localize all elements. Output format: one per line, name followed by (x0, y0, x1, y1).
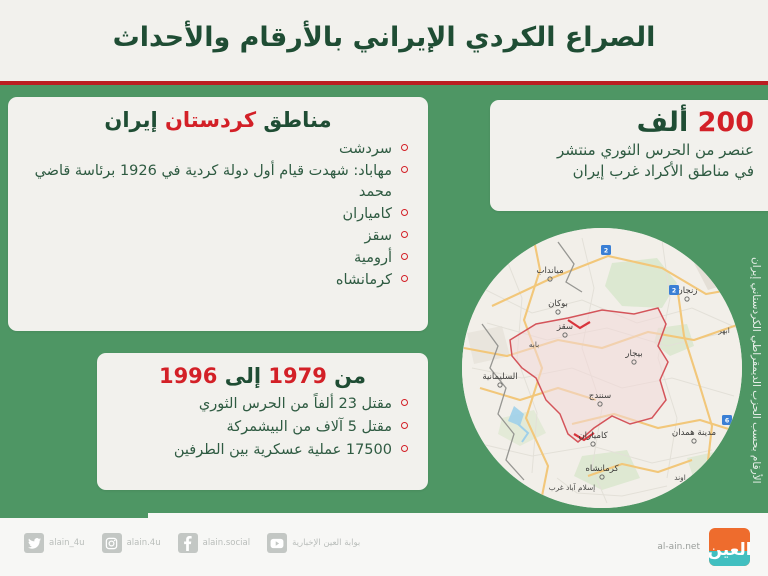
bullet-icon (401, 422, 408, 429)
list-item-label: كرمانشاه (336, 272, 392, 288)
years-list: مقتل 23 ألفاً من الحرس الثوري مقتل 5 آلا… (97, 394, 428, 461)
route-shield-label: 2 (604, 247, 608, 254)
facebook-icon (178, 533, 198, 553)
guard-headline: 200 ألف (508, 108, 754, 138)
regions-title-part1: مناطق (263, 108, 331, 132)
map-label: زنجان (676, 286, 697, 296)
map-label: كرمانشاه (585, 464, 619, 474)
youtube-icon (267, 533, 287, 553)
social-links: alain_4u alain.4u alain.social بوابة الع… (24, 533, 377, 553)
map-label: ميانداب (536, 266, 563, 276)
bullet-icon (401, 275, 408, 282)
side-note: الأرقام بحسب الحزب الديمقراطي الكردستاني… (745, 232, 767, 508)
bullet-icon (401, 253, 408, 260)
map-label: ابهر (717, 326, 730, 335)
social-handle: alain.social (203, 538, 250, 548)
bullet-icon (401, 231, 408, 238)
instagram-icon (102, 533, 122, 553)
bullet-icon (401, 144, 408, 151)
map-label: اوند (674, 473, 686, 482)
years-card: من 1979 إلى 1996 مقتل 23 ألفاً من الحرس … (97, 353, 428, 490)
map-label: السليمانية (482, 372, 517, 382)
map-label: سقز (556, 322, 573, 332)
list-item-label: مهاباد: شهدت قيام أول دولة كردية في 1926… (35, 163, 392, 200)
list-item: 17500 عملية عسكرية بين الطرفين (115, 440, 408, 462)
social-link-twitter[interactable]: alain_4u (24, 533, 85, 553)
list-item: كرمانشاه (26, 270, 408, 291)
guard-line2: في مناطق الأكراد غرب إيران (508, 161, 754, 183)
bullet-icon (401, 399, 408, 406)
social-handle: alain_4u (49, 538, 85, 548)
guard-unit: ألف (637, 107, 689, 138)
regions-card-title: مناطق كردستان إيران (26, 107, 410, 133)
list-item-label: كامياران (342, 206, 392, 222)
list-item: سردشت (26, 139, 408, 160)
map-label: كامياران (578, 431, 608, 441)
years-card-title: من 1979 إلى 1996 (113, 363, 412, 389)
social-link-instagram[interactable]: alain.4u (102, 533, 161, 553)
map-label: بيجار (624, 349, 642, 359)
list-item-label: أرومية (354, 250, 392, 266)
guard-card: 200 ألف عنصر من الحرس الثوري منتشر في من… (490, 100, 768, 211)
years-title-year2: 1996 (159, 364, 217, 388)
bullet-icon (401, 209, 408, 216)
list-item-label: 17500 عملية عسكرية بين الطرفين (174, 442, 392, 458)
brand-url: al-ain.net (657, 542, 700, 552)
twitter-icon (24, 533, 44, 553)
map-label: مدينة همدان (672, 428, 716, 438)
page-title: الصراع الكردي الإيراني بالأرقام والأحداث (113, 22, 656, 58)
list-item: مقتل 23 ألفاً من الحرس الثوري (115, 394, 408, 416)
map-label: بابه (529, 340, 539, 349)
map-label: إسلام آباد غرب (549, 482, 595, 492)
map-svg: ميانداببوكانسقزبابهالسليمانيةزنجانابهربي… (462, 228, 742, 508)
guard-number: 200 (698, 107, 754, 138)
regions-title-part3: إيران (104, 108, 157, 132)
social-link-facebook[interactable]: alain.social (178, 533, 250, 553)
social-handle: alain.4u (127, 538, 161, 548)
bullet-icon (401, 166, 408, 173)
list-item-label: سردشت (339, 141, 392, 157)
list-item-label: سقز (365, 228, 393, 244)
footer-green-tab (0, 513, 148, 518)
map-circle: ميانداببوكانسقزبابهالسليمانيةزنجانابهربي… (462, 228, 742, 508)
regions-list: سردشت مهاباد: شهدت قيام أول دولة كردية ف… (8, 139, 428, 291)
years-title-year1: 1979 (268, 364, 326, 388)
header: الصراع الكردي الإيراني بالأرقام والأحداث (0, 0, 768, 81)
route-shield-label: 6 (725, 417, 729, 424)
list-item: سقز (26, 226, 408, 247)
years-title-to: إلى (225, 364, 261, 388)
logo-mark: العين (709, 542, 750, 566)
map-label: بوكان (548, 299, 568, 309)
social-link-youtube[interactable]: بوابة العين الإخبارية (267, 533, 360, 553)
route-shield-label: 2 (672, 287, 676, 294)
infographic-page: الصراع الكردي الإيراني بالأرقام والأحداث… (0, 0, 768, 576)
bullet-icon (401, 445, 408, 452)
regions-title-part2: كردستان (165, 108, 256, 132)
map-label: سنندج (589, 391, 611, 401)
list-item-label: مقتل 5 آلاف من البيشمركة (227, 419, 392, 435)
list-item: أرومية (26, 248, 408, 269)
guard-line1: عنصر من الحرس الثوري منتشر (508, 140, 754, 162)
list-item: مقتل 5 آلاف من البيشمركة (115, 417, 408, 439)
list-item: مهاباد: شهدت قيام أول دولة كردية في 1926… (26, 161, 408, 203)
years-title-from: من (334, 364, 366, 388)
list-item-label: مقتل 23 ألفاً من الحرس الثوري (199, 396, 392, 412)
social-handle: بوابة العين الإخبارية (292, 538, 360, 548)
regions-card: مناطق كردستان إيران سردشت مهاباد: شهدت ق… (8, 97, 428, 331)
list-item: كامياران (26, 204, 408, 225)
brand[interactable]: al-ain.net العين (657, 528, 750, 566)
al-ain-logo-icon: العين (709, 528, 750, 566)
